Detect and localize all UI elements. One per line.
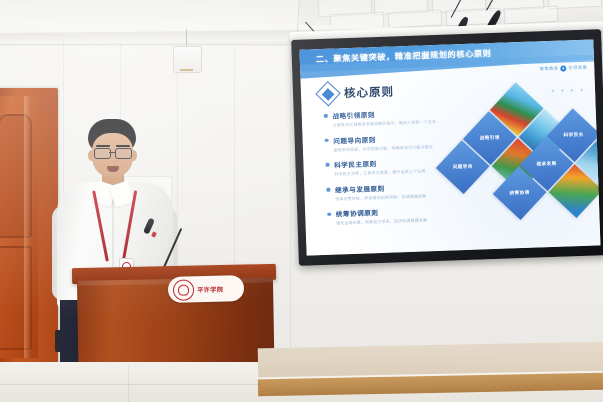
speaker-base [180, 69, 193, 71]
podium-emblem: 平许学院 [168, 275, 245, 303]
eyeglasses-icon [93, 148, 133, 158]
diamond-label: 统筹协调 [510, 190, 530, 197]
bullet-dot-icon [326, 188, 330, 192]
glasses-lens-left [94, 148, 111, 159]
glasses-lens-right [115, 148, 132, 159]
diamond-bullet-icon [315, 81, 340, 106]
slide-section-heading: 核心原则 [319, 82, 395, 103]
diamond-label: 战略引领 [480, 135, 500, 142]
diamond-graphic-cluster: 战略引领 问题导向 科学民主 继承发展 统筹协调 [449, 91, 600, 246]
bullet-dot-icon [327, 212, 331, 216]
bullet-dot-icon [324, 114, 328, 118]
presenter-brow-left [96, 145, 110, 147]
presenter-brow-right [116, 145, 130, 147]
bullet-title: 继承与发展原则 [335, 183, 385, 195]
slide-logo-right-text: 引领发展 [568, 65, 587, 72]
screen-bezel: 二、聚焦关键突破，精准把握规划的核心原则 聚焦教育 ● 引领发展 核心原则 + … [291, 29, 603, 266]
diamond-label: 问题导向 [453, 164, 473, 171]
door-highlight [24, 96, 31, 358]
projection-screen: 二、聚焦关键突破，精准把握规划的核心原则 聚焦教育 ● 引领发展 核心原则 + … [291, 25, 603, 278]
school-seal-icon [173, 279, 195, 301]
door-leaf[interactable] [0, 96, 38, 358]
ceiling-tile [504, 6, 559, 25]
bullet-dot-icon [325, 139, 329, 143]
ceiling-tile [388, 10, 443, 29]
bullet-title: 问题导向原则 [333, 134, 376, 145]
diamond-label: 继承发展 [537, 161, 557, 168]
slide-logo-mark-icon: ● [560, 65, 566, 71]
slide-section-title: 核心原则 [344, 83, 395, 101]
slide-logo: 聚焦教育 ● 引领发展 [540, 65, 588, 73]
wall-seam [290, 50, 291, 350]
bullet-title: 科学民主原则 [334, 158, 377, 169]
school-name-text: 平许学院 [197, 284, 224, 294]
bullet-title: 战略引领原则 [332, 109, 375, 120]
diamond-label: 科学民主 [564, 132, 584, 139]
screenshot-root: 二、聚焦关键突破，精准把握规划的核心原则 聚焦教育 ● 引领发展 核心原则 + … [0, 0, 603, 402]
screen-surface: 二、聚焦关键突破，精准把握规划的核心原则 聚焦教育 ● 引领发展 核心原则 + … [299, 39, 600, 255]
shirt-placket [112, 196, 114, 276]
presentation-slide: 二、聚焦关键突破，精准把握规划的核心原则 聚焦教育 ● 引领发展 核心原则 + … [299, 39, 600, 255]
slide-logo-left-text: 聚焦教育 [540, 66, 559, 73]
floor-tile-line [128, 366, 129, 402]
presenter-mouth [107, 166, 119, 172]
bullet-dot-icon [325, 163, 329, 167]
bullet-title: 统筹协调原则 [336, 207, 379, 218]
floor-tile-line [0, 384, 260, 385]
speaker-cable [186, 29, 187, 47]
